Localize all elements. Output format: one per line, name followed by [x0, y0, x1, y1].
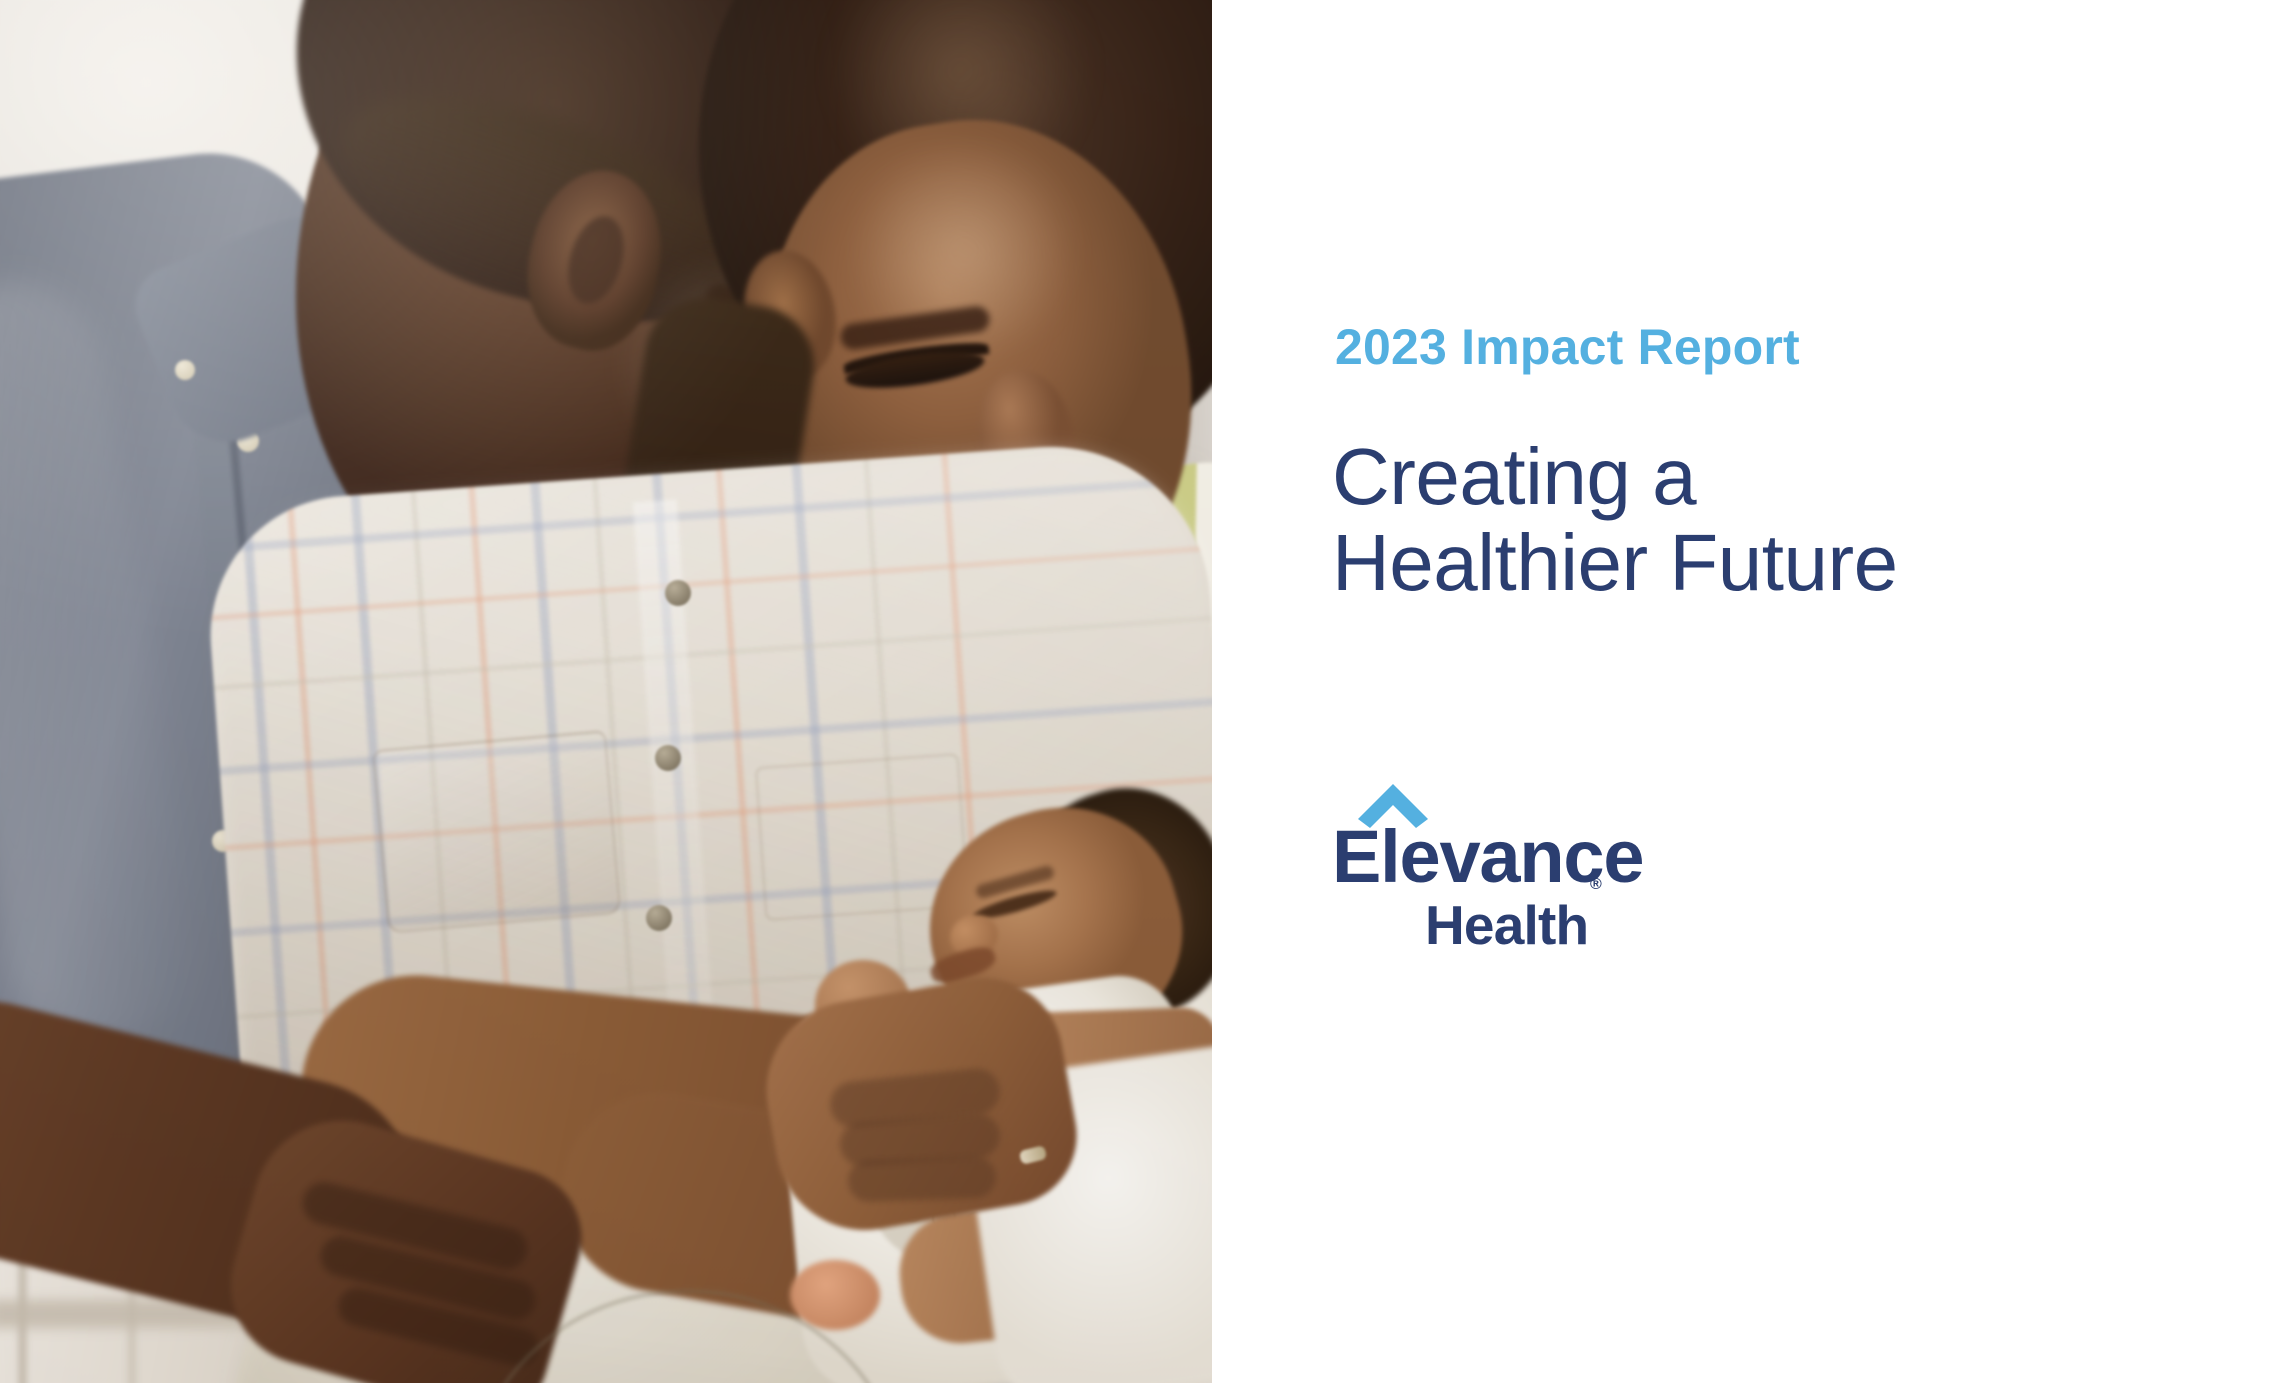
page-title: Creating a Healthier Future — [1332, 434, 1898, 605]
shirt-button — [646, 905, 672, 931]
shirt-button — [665, 580, 691, 606]
collar-button — [175, 360, 195, 380]
shirt-chest-pocket — [372, 730, 621, 934]
cover-photograph — [0, 0, 1212, 1383]
impact-report-cover: 2023 Impact Report Creating a Healthier … — [0, 0, 2283, 1383]
cover-text-panel: 2023 Impact Report Creating a Healthier … — [1212, 0, 2283, 1383]
shirt-button — [655, 745, 681, 771]
elevance-health-logo[interactable]: Elevance ® Health — [1332, 780, 1662, 960]
report-eyebrow: 2023 Impact Report — [1335, 322, 1800, 372]
finger — [847, 1155, 996, 1202]
logo-subword: Health — [1425, 898, 1588, 953]
registered-trademark-mark: ® — [1590, 876, 1602, 894]
baby-foot — [790, 1260, 880, 1330]
